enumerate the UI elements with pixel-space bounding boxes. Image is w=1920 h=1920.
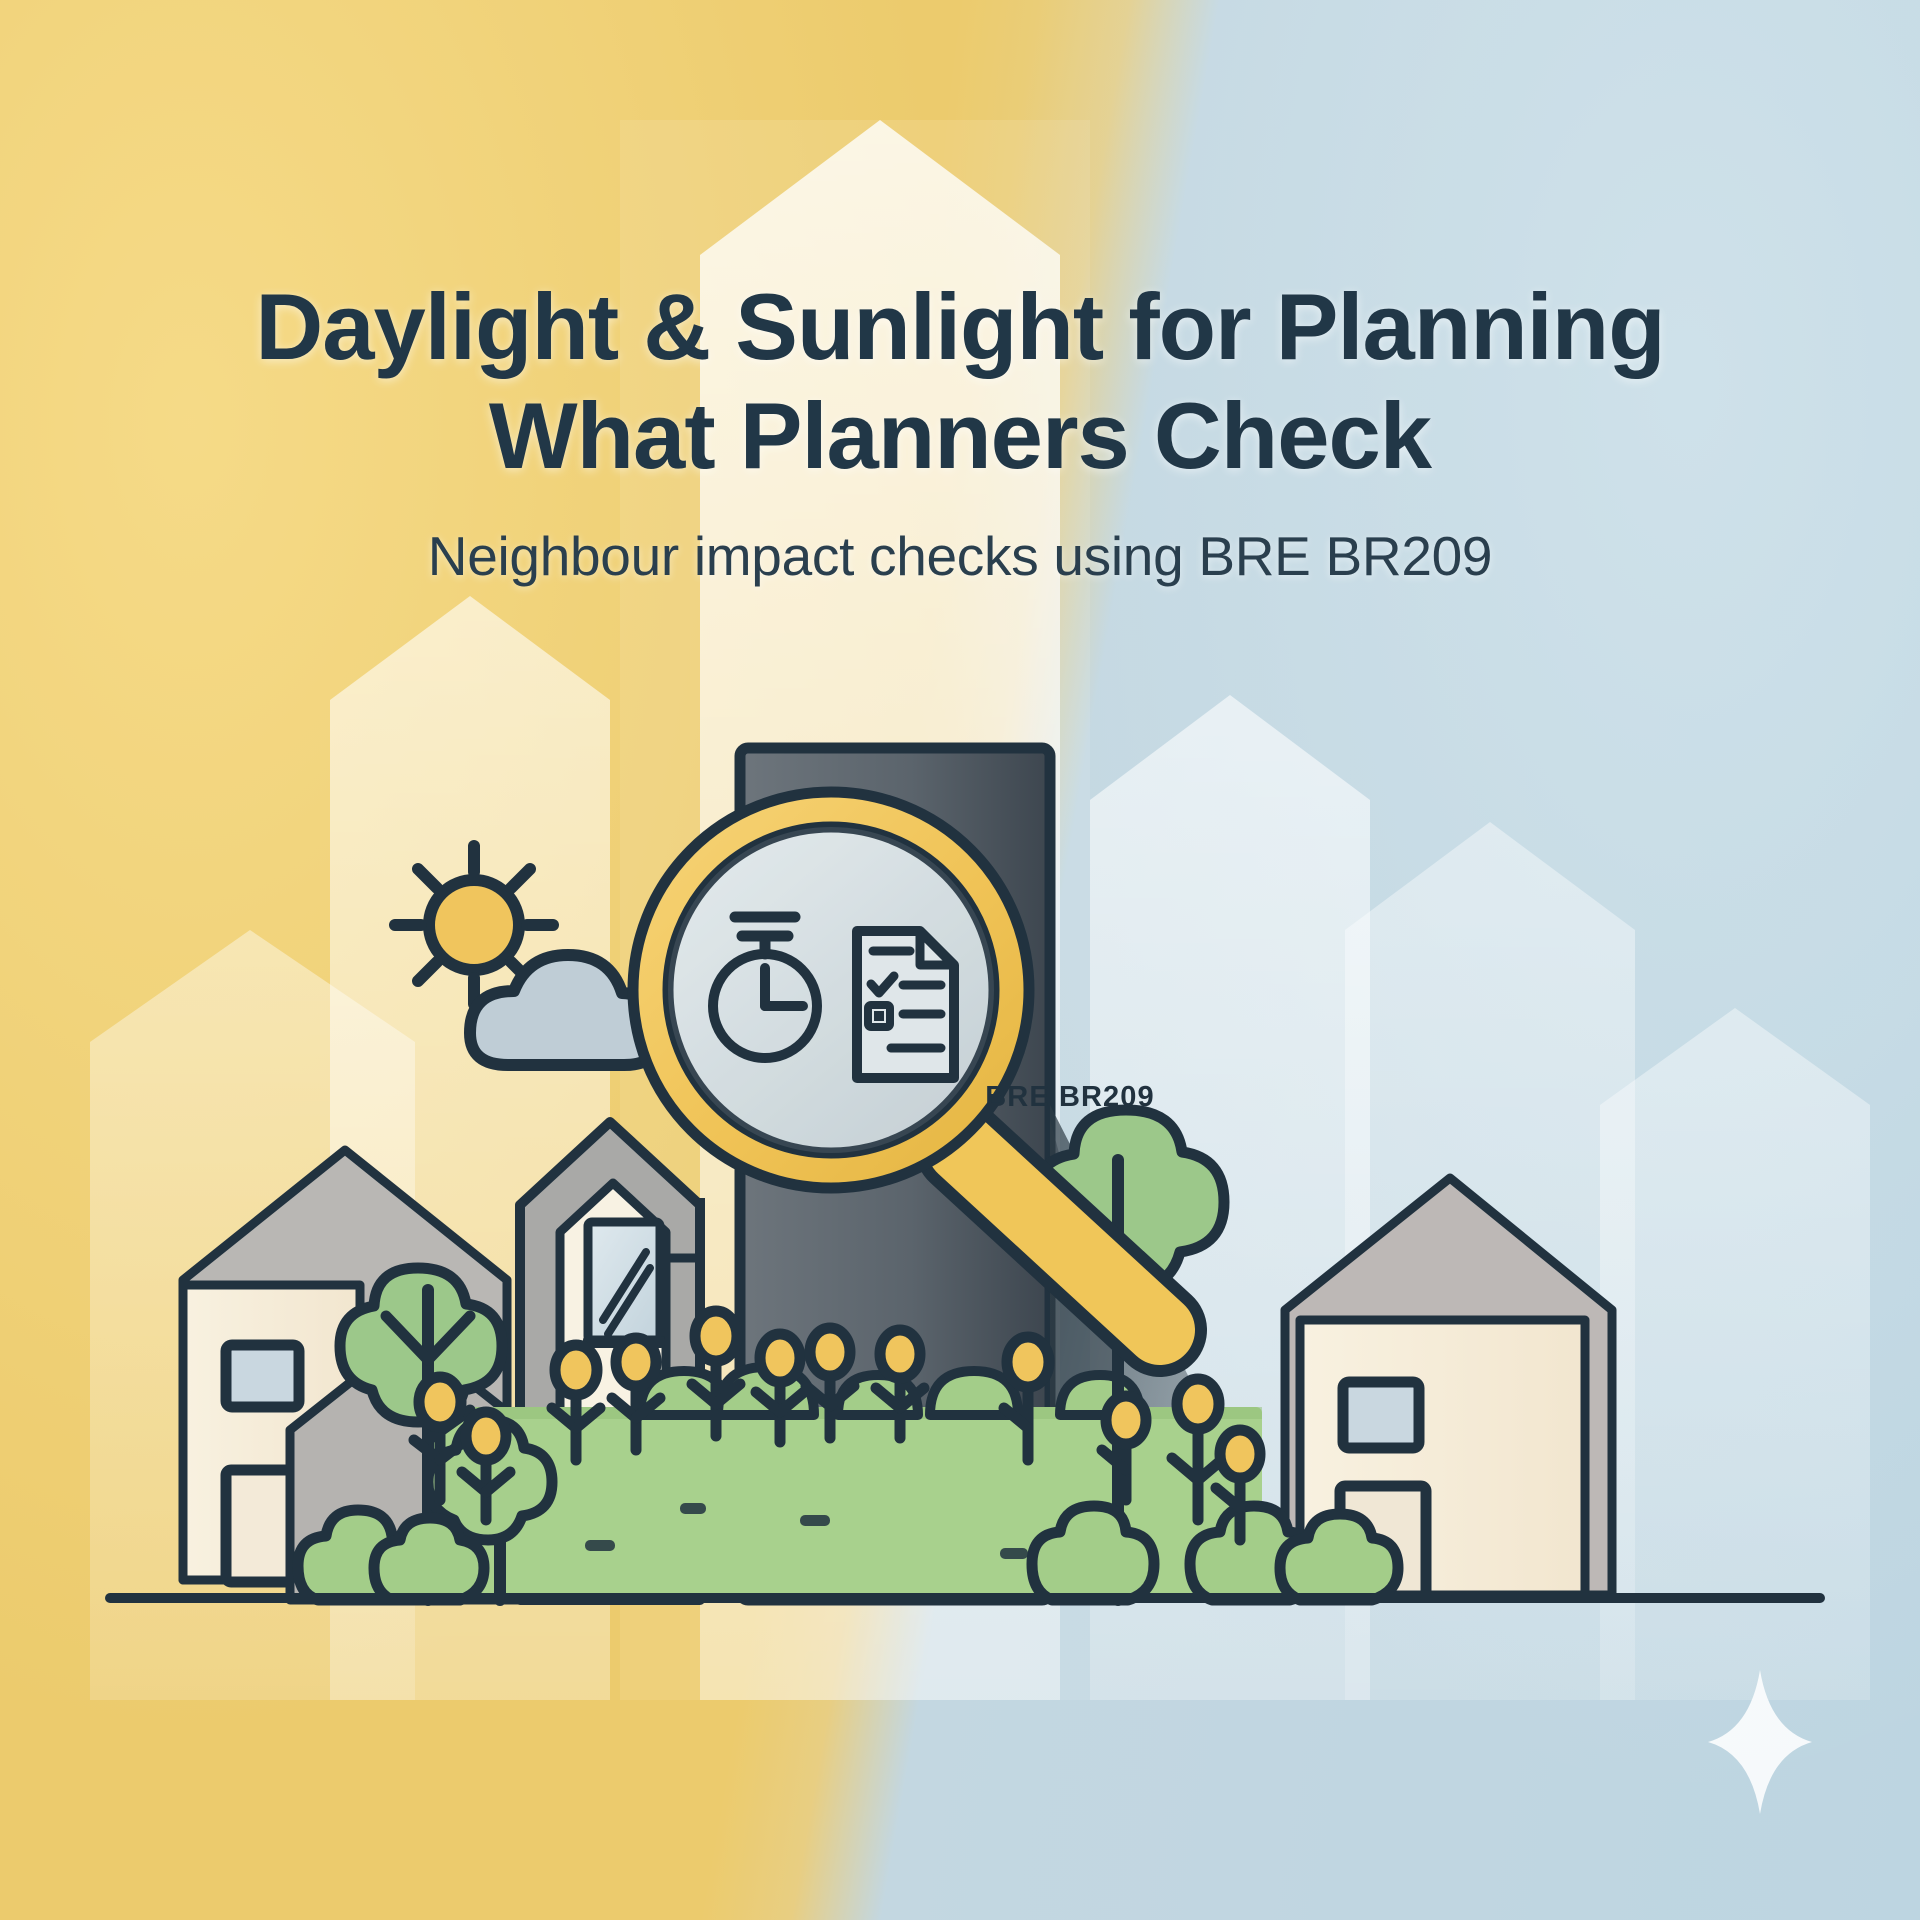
sparkle-icon xyxy=(1708,1670,1812,1814)
scene-illustration xyxy=(0,0,1920,1920)
checklist-document-icon xyxy=(857,931,954,1078)
shrub-cluster-left xyxy=(298,1510,484,1600)
lens-caption: BRE BR209 xyxy=(940,1081,1200,1114)
poster-canvas: Daylight & Sunlight for Planning What Pl… xyxy=(0,0,1920,1920)
magnifier-icon xyxy=(633,792,1029,1188)
